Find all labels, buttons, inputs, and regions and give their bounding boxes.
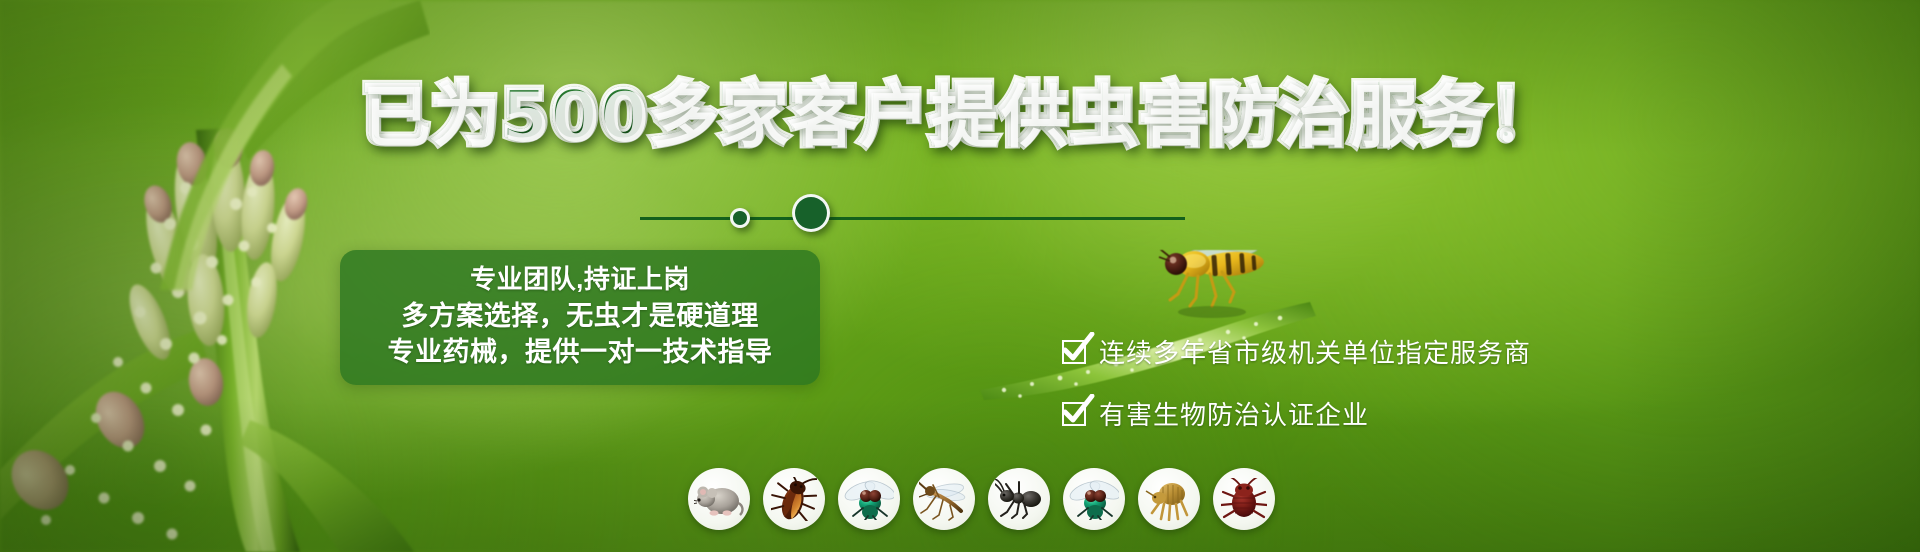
decor-horizontal-rule (640, 217, 1185, 220)
slogan-panel: 专业团队,持证上岗 多方案选择，无虫才是硬道理 专业药械，提供一对一技术指导 (340, 250, 820, 385)
bullet-label: 连续多年省市级机关单位指定服务商 (1099, 333, 1531, 370)
slogan-line-1: 专业团队,持证上岗 (470, 263, 690, 296)
bedbug-icon[interactable] (1213, 468, 1275, 530)
mouse-icon[interactable] (688, 468, 750, 530)
fly-icon[interactable] (838, 468, 900, 530)
slogan-line-3: 专业药械，提供一对一技术指导 (388, 335, 773, 370)
slogan-line-2: 多方案选择，无虫才是硬道理 (401, 299, 759, 334)
credential-bullet-list: 连续多年省市级机关单位指定服务商 有害生物防治认证企业 (1062, 333, 1531, 432)
checkbox-checked-icon (1062, 402, 1086, 426)
decor-dot-small (730, 208, 750, 228)
fly-icon-2[interactable] (1063, 468, 1125, 530)
ant-icon[interactable] (988, 468, 1050, 530)
list-item: 有害生物防治认证企业 (1062, 395, 1531, 432)
decor-dot-large (792, 194, 830, 232)
pest-control-hero-banner: 已为500多家客户提供虫害防治服务！ 已为500多家客户提供虫害防治服务！ 专业… (0, 0, 1920, 552)
cockroach-icon[interactable] (763, 468, 825, 530)
list-item: 连续多年省市级机关单位指定服务商 (1062, 333, 1531, 370)
pest-type-icon-row (688, 468, 1275, 530)
checkbox-checked-icon (1062, 340, 1086, 364)
mosquito-icon[interactable] (913, 468, 975, 530)
flea-icon[interactable] (1138, 468, 1200, 530)
decor-group (640, 195, 1040, 243)
bullet-label: 有害生物防治认证企业 (1099, 395, 1369, 432)
page-title: 已为500多家客户提供虫害防治服务！ (0, 82, 1920, 150)
